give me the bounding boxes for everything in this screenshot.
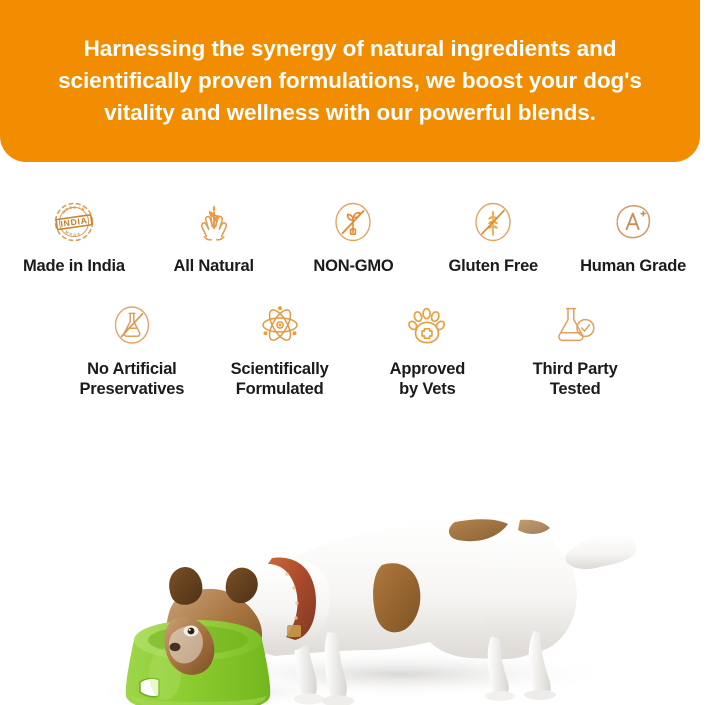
badge-no-artificial-preservatives[interactable]: No Artificial Preservatives	[58, 299, 206, 400]
gluten-free-wheat-slash-icon	[467, 196, 519, 248]
badge-label: All Natural	[174, 256, 254, 277]
badge-gluten-free[interactable]: Gluten Free	[423, 196, 563, 277]
badge-human-grade[interactable]: Human Grade	[563, 196, 703, 277]
paw-medical-cross-icon	[401, 299, 453, 351]
svg-text:N: N	[81, 206, 86, 212]
svg-text:INDIA: INDIA	[60, 215, 89, 229]
product-benefits-page: Harnessing the synergy of natural ingred…	[0, 0, 707, 705]
badge-label: NON-GMO	[313, 256, 393, 277]
badge-label: Gluten Free	[449, 256, 539, 277]
atom-icon	[254, 299, 306, 351]
badge-made-in-india[interactable]: INDIA M A D E I N M A D E	[4, 196, 144, 277]
headline-banner: Harnessing the synergy of natural ingred…	[0, 0, 700, 162]
svg-text:E: E	[77, 232, 81, 237]
badge-row-2: No Artificial Preservatives	[0, 299, 707, 400]
headline-text: Harnessing the synergy of natural ingred…	[0, 33, 700, 129]
no-gmo-plant-slash-icon	[327, 196, 379, 248]
svg-text:I: I	[78, 205, 80, 210]
flask-checkmark-icon	[549, 299, 601, 351]
hands-holding-sprout-icon	[188, 196, 240, 248]
badge-approved-by-vets[interactable]: Approved by Vets	[354, 299, 502, 400]
dog-eating-photo	[0, 434, 707, 705]
badge-label: Human Grade	[580, 256, 686, 277]
badge-scientifically-formulated[interactable]: Scientifically Formulated	[206, 299, 354, 400]
trust-badges-section: INDIA M A D E I N M A D E	[0, 196, 707, 400]
badge-all-natural[interactable]: All Natural	[144, 196, 284, 277]
badge-non-gmo[interactable]: NON-GMO	[284, 196, 424, 277]
badge-row-1: INDIA M A D E I N M A D E	[0, 196, 707, 277]
no-flask-slash-icon	[106, 299, 158, 351]
badge-label: Approved by Vets	[390, 359, 465, 400]
a-plus-grade-icon	[607, 196, 659, 248]
badge-label: Scientifically Formulated	[231, 359, 329, 400]
badge-label: Made in India	[23, 256, 125, 277]
made-in-india-stamp-icon: INDIA M A D E I N M A D E	[48, 196, 100, 248]
badge-label: No Artificial Preservatives	[80, 359, 185, 400]
badge-label: Third Party Tested	[533, 359, 618, 400]
badge-third-party-tested[interactable]: Third Party Tested	[501, 299, 649, 400]
